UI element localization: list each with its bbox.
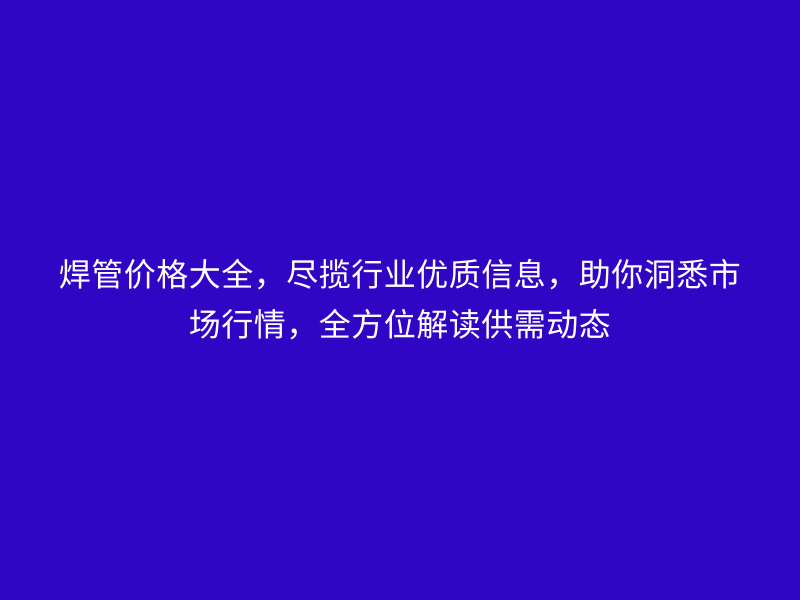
banner-headline: 焊管价格大全，尽揽行业优质信息，助你洞悉市场行情，全方位解读供需动态 xyxy=(48,250,752,350)
banner-canvas: 焊管价格大全，尽揽行业优质信息，助你洞悉市场行情，全方位解读供需动态 xyxy=(0,0,800,600)
headline-block: 焊管价格大全，尽揽行业优质信息，助你洞悉市场行情，全方位解读供需动态 xyxy=(0,0,800,600)
